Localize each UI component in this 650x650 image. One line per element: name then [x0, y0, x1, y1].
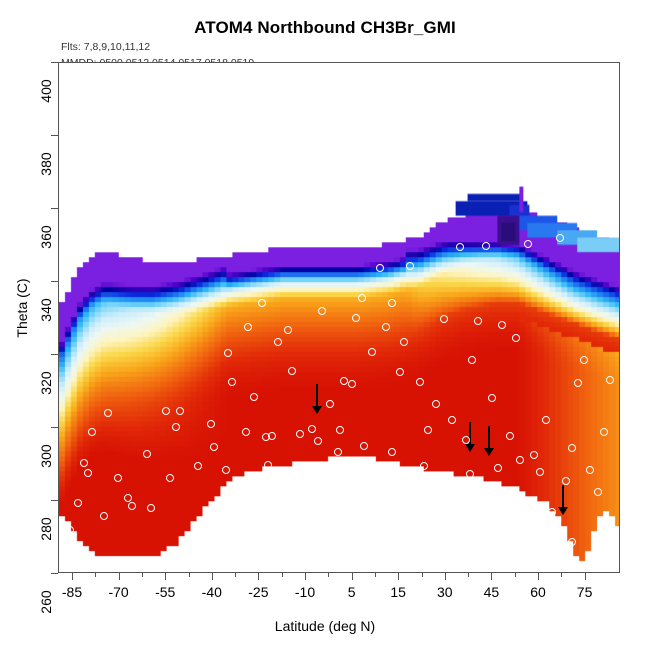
x-axis-minor-tick [95, 573, 96, 577]
x-axis-tick-label: 60 [530, 584, 546, 600]
x-axis-minor-tick [422, 573, 423, 577]
x-axis-tick [352, 573, 353, 580]
data-point-marker [264, 461, 272, 469]
data-point-marker [88, 428, 96, 436]
data-point-marker [580, 356, 588, 364]
x-axis-tick [445, 573, 446, 580]
annotation-arrow [483, 426, 495, 458]
data-point-marker [288, 367, 296, 375]
data-point-marker [506, 432, 514, 440]
data-point-marker [406, 262, 414, 270]
data-point-marker [308, 425, 316, 433]
data-point-marker [388, 299, 396, 307]
x-axis-minor-tick [235, 573, 236, 577]
data-point-marker [66, 526, 74, 534]
x-axis-tick-label: 75 [577, 584, 593, 600]
data-point-marker [568, 444, 576, 452]
data-point-marker [274, 338, 282, 346]
data-point-marker [524, 240, 532, 248]
x-axis-tick-label: 5 [348, 584, 356, 600]
data-point-marker [124, 494, 132, 502]
data-point-marker [574, 379, 582, 387]
arrow-head [465, 444, 475, 452]
data-point-marker [296, 430, 304, 438]
data-point-marker [586, 466, 594, 474]
data-point-marker [568, 538, 576, 546]
x-axis-tick [119, 573, 120, 580]
data-point-marker [114, 474, 122, 482]
data-point-marker [358, 294, 366, 302]
data-point-marker [498, 321, 506, 329]
y-axis-tick-label: 300 [38, 426, 54, 486]
data-point-marker [207, 420, 215, 428]
x-axis-tick-label: -55 [155, 584, 175, 600]
data-point-marker [536, 510, 544, 518]
data-point-marker [556, 234, 564, 242]
x-axis-tick [585, 573, 586, 580]
data-point-marker [80, 459, 88, 467]
x-axis-title: Latitude (deg N) [0, 618, 650, 634]
data-point-marker [400, 338, 408, 346]
y-axis-tick-label: 340 [38, 280, 54, 340]
arrow-shaft [469, 422, 471, 446]
arrow-shaft [562, 485, 564, 509]
data-point-marker [360, 442, 368, 450]
data-point-marker [244, 323, 252, 331]
data-point-marker [542, 416, 550, 424]
plot-area [58, 62, 620, 573]
data-point-marker [396, 368, 404, 376]
data-point-marker [482, 242, 490, 250]
data-point-marker [100, 512, 108, 520]
data-point-marker [194, 462, 202, 470]
x-axis-tick-label: 45 [484, 584, 500, 600]
data-point-marker [466, 470, 474, 478]
data-point-marker [296, 475, 304, 483]
x-axis-minor-tick [561, 573, 562, 577]
data-point-marker [530, 451, 538, 459]
data-point-marker [242, 428, 250, 436]
data-point-marker [424, 426, 432, 434]
arrow-head [558, 507, 568, 515]
data-point-marker [462, 436, 470, 444]
x-axis-minor-tick [468, 573, 469, 577]
x-axis-minor-tick [282, 573, 283, 577]
data-point-marker [606, 376, 614, 384]
y-axis-tick-label: 380 [38, 134, 54, 194]
data-point-marker [326, 400, 334, 408]
data-point-marker [382, 323, 390, 331]
x-axis-minor-tick [328, 573, 329, 577]
y-axis-tick-label: 260 [38, 572, 54, 632]
data-point-marker [562, 477, 570, 485]
annotation-arrow [311, 384, 323, 416]
x-axis-minor-tick [375, 573, 376, 577]
data-point-marker [594, 488, 602, 496]
x-axis-tick-label: 30 [437, 584, 453, 600]
arrow-head [484, 448, 494, 456]
data-point-marker [128, 502, 136, 510]
data-point-marker [147, 504, 155, 512]
data-point-marker [440, 315, 448, 323]
data-point-marker [474, 317, 482, 325]
data-point-marker [318, 307, 326, 315]
data-point-marker [536, 468, 544, 476]
x-axis-tick-label: -10 [295, 584, 315, 600]
data-point-marker [104, 409, 112, 417]
data-point-marker [334, 448, 342, 456]
data-point-marker [176, 407, 184, 415]
data-point-marker [348, 380, 356, 388]
data-point-marker [84, 469, 92, 477]
data-point-marker [556, 544, 564, 552]
heatmap-field [59, 63, 619, 572]
data-point-marker [548, 508, 556, 516]
x-axis-minor-tick [515, 573, 516, 577]
data-point-marker [368, 348, 376, 356]
data-point-marker [432, 400, 440, 408]
data-point-marker [516, 456, 524, 464]
data-point-marker [494, 464, 502, 472]
x-axis-tick-label: -85 [62, 584, 82, 600]
x-axis-tick [212, 573, 213, 580]
data-point-marker [512, 494, 520, 502]
data-point-marker [162, 407, 170, 415]
data-point-marker [172, 423, 180, 431]
data-point-marker [268, 432, 276, 440]
flights-annotation: Flts: 7,8,9,10,11,12 [61, 41, 150, 53]
data-point-marker [258, 299, 266, 307]
x-axis-tick-label: -25 [248, 584, 268, 600]
data-point-marker [60, 541, 68, 549]
y-axis-tick-label: 280 [38, 499, 54, 559]
data-point-marker [250, 393, 258, 401]
data-point-marker [352, 314, 360, 322]
y-axis-title: Theta (C) [14, 248, 30, 368]
data-point-marker [314, 437, 322, 445]
data-point-marker [376, 264, 384, 272]
arrow-shaft [488, 426, 490, 450]
data-point-marker [420, 462, 428, 470]
data-point-marker [448, 416, 456, 424]
x-axis-minor-tick [142, 573, 143, 577]
y-axis-tick-label: 320 [38, 353, 54, 413]
data-point-marker [512, 334, 520, 342]
annotation-arrow [557, 485, 569, 517]
x-axis-tick [165, 573, 166, 580]
data-point-marker [228, 378, 236, 386]
data-point-marker [456, 243, 464, 251]
data-point-marker [284, 326, 292, 334]
data-point-marker [224, 349, 232, 357]
x-axis-tick [398, 573, 399, 580]
arrow-head [312, 406, 322, 414]
x-axis-tick [305, 573, 306, 580]
data-point-marker [336, 426, 344, 434]
y-axis-tick-label: 400 [38, 61, 54, 121]
data-point-marker [143, 450, 151, 458]
data-point-marker [468, 356, 476, 364]
x-axis-tick [72, 573, 73, 580]
x-axis-tick [538, 573, 539, 580]
arrow-shaft [316, 384, 318, 408]
data-point-marker [210, 443, 218, 451]
x-axis-minor-tick [189, 573, 190, 577]
data-point-marker [600, 428, 608, 436]
x-axis-tick-label: 15 [390, 584, 406, 600]
data-point-marker [74, 499, 82, 507]
data-point-marker [416, 378, 424, 386]
data-point-marker [222, 466, 230, 474]
data-point-marker [488, 394, 496, 402]
data-point-marker [166, 474, 174, 482]
x-axis-tick [491, 573, 492, 580]
x-axis-tick [258, 573, 259, 580]
x-axis-tick-label: -40 [202, 584, 222, 600]
data-point-marker [340, 377, 348, 385]
page-title: ATOM4 Northbound CH3Br_GMI [0, 18, 650, 38]
x-axis-tick-label: -70 [108, 584, 128, 600]
data-point-marker [388, 448, 396, 456]
y-axis-tick-label: 360 [38, 207, 54, 267]
